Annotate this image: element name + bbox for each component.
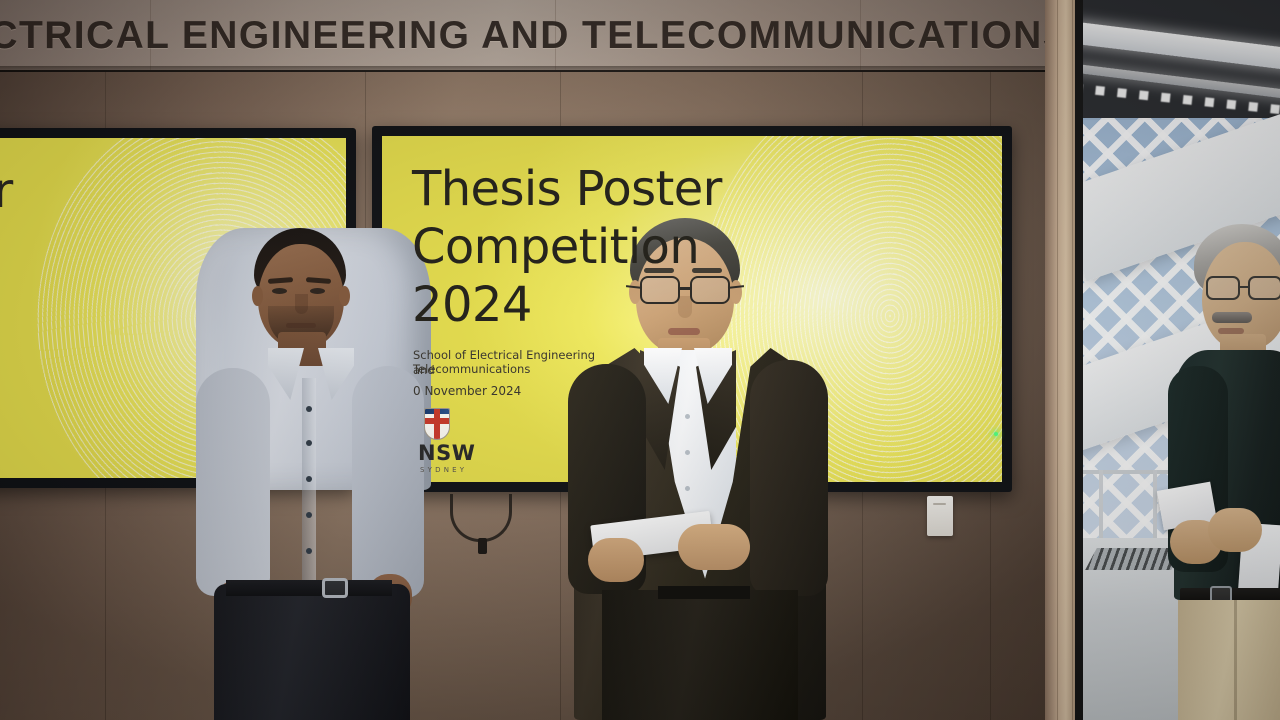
eyeglasses-icon: [1206, 276, 1240, 300]
photo-scene: ECTRICAL ENGINEERING AND TELECOMMUNICATI…: [0, 0, 1280, 720]
slide-date: 0 November 2024: [413, 384, 521, 398]
person-attendee: [1168, 224, 1280, 720]
slide-title-line3: 2024: [412, 280, 532, 331]
slide-subtitle-line2: Telecommunications: [413, 362, 530, 377]
chinos: [1178, 600, 1280, 720]
trousers: [602, 590, 798, 720]
person-presenter: [566, 218, 834, 720]
slide-title-line1: Thesis Poster: [412, 164, 892, 215]
eyeglasses-icon: [1248, 276, 1280, 300]
unsw-wordmark: NSW: [418, 443, 480, 464]
venue-signage: ECTRICAL ENGINEERING AND TELECOMMUNICATI…: [0, 14, 1022, 58]
eyeglasses-icon: [690, 276, 730, 304]
unsw-crest-icon: [424, 408, 450, 440]
display-cable-connector: [478, 538, 487, 554]
unsw-sublabel: SYDNEY: [420, 466, 480, 474]
trousers: [214, 584, 410, 720]
person-student: [196, 228, 431, 720]
unsw-logo: NSW SYDNEY: [418, 408, 480, 474]
wall-mounted-sensor: [927, 496, 953, 536]
display-status-led-icon: [994, 432, 998, 436]
display-left-title-line1: ster: [0, 166, 222, 217]
eyeglasses-icon: [640, 276, 680, 304]
slide-title-line2: Competition: [412, 222, 699, 273]
moustache: [1212, 312, 1252, 323]
belt-buckle: [322, 578, 348, 598]
